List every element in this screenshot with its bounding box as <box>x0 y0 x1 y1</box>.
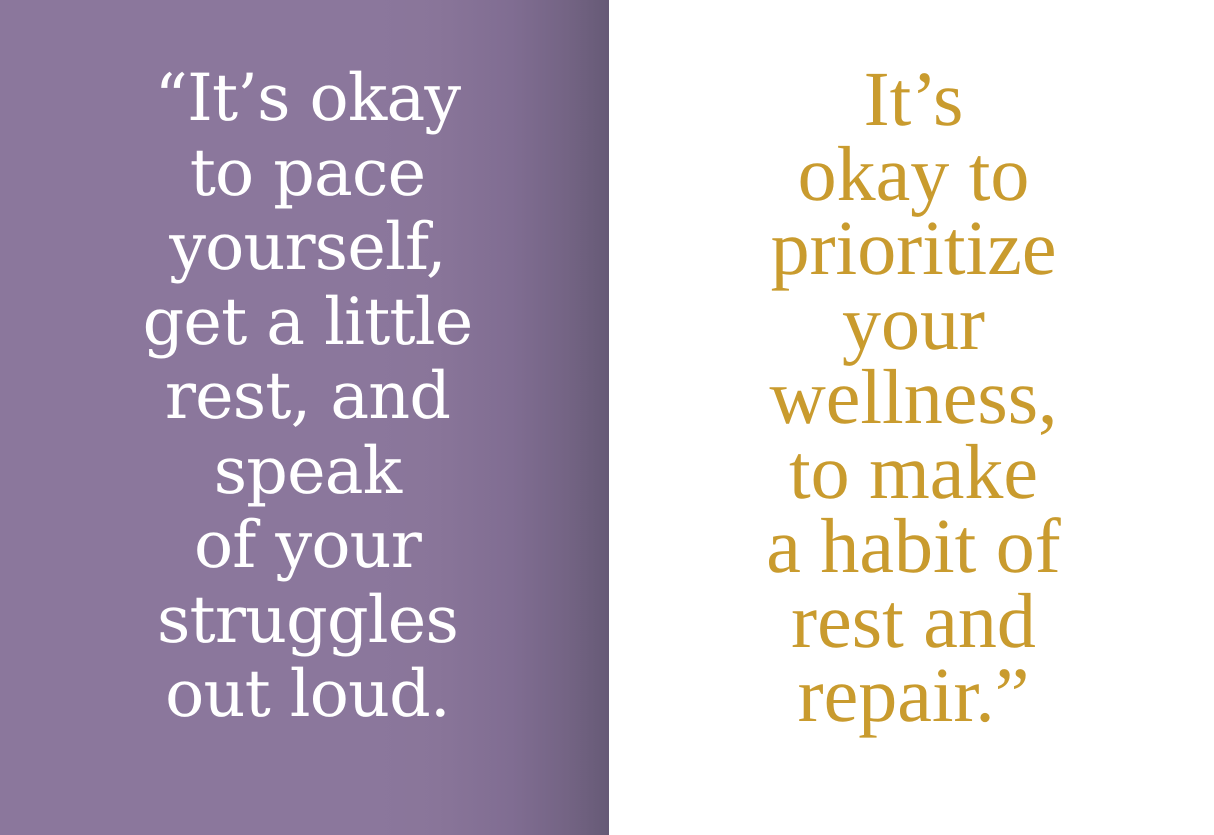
left-page-quote-text: “It’s okay to pace yourself, get a littl… <box>0 62 609 733</box>
right-page-quote-text: It’s okay to prioritize your wellness, t… <box>609 62 1214 733</box>
left-page-purple: “It’s okay to pace yourself, get a littl… <box>0 0 609 835</box>
quote-spread-canvas: “It’s okay to pace yourself, get a littl… <box>0 0 1214 835</box>
right-page-white: It’s okay to prioritize your wellness, t… <box>609 0 1214 835</box>
